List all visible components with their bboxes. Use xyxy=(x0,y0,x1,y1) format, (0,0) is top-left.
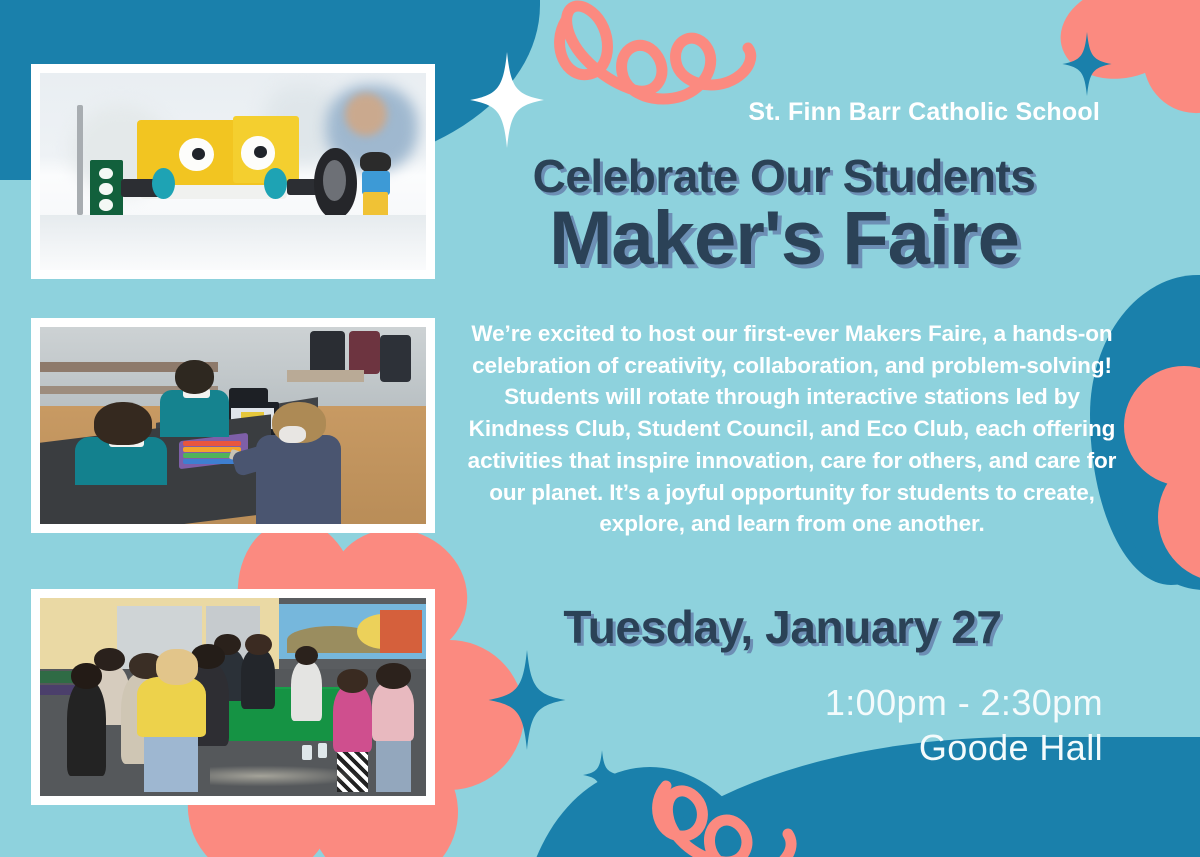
event-location: Goode Hall xyxy=(919,727,1103,769)
headline-line-2: Maker's Faire xyxy=(455,198,1113,280)
page-title: Celebrate Our Students Maker's Faire xyxy=(455,152,1113,280)
photo-students-table xyxy=(31,318,435,533)
event-date: Tuesday, January 27 xyxy=(455,600,1110,654)
headline-line-1: Celebrate Our Students xyxy=(455,152,1113,200)
event-time: 1:00pm - 2:30pm xyxy=(825,682,1103,724)
school-name: St. Finn Barr Catholic School xyxy=(748,98,1100,127)
text-column: St. Finn Barr Catholic School Celebrate … xyxy=(455,0,1155,857)
flyer-canvas: St. Finn Barr Catholic School Celebrate … xyxy=(0,0,1200,857)
photo-lego-robot xyxy=(31,64,435,279)
body-copy: We’re excited to host our first-ever Mak… xyxy=(467,318,1117,540)
photo-schoolyard-group xyxy=(31,589,435,805)
